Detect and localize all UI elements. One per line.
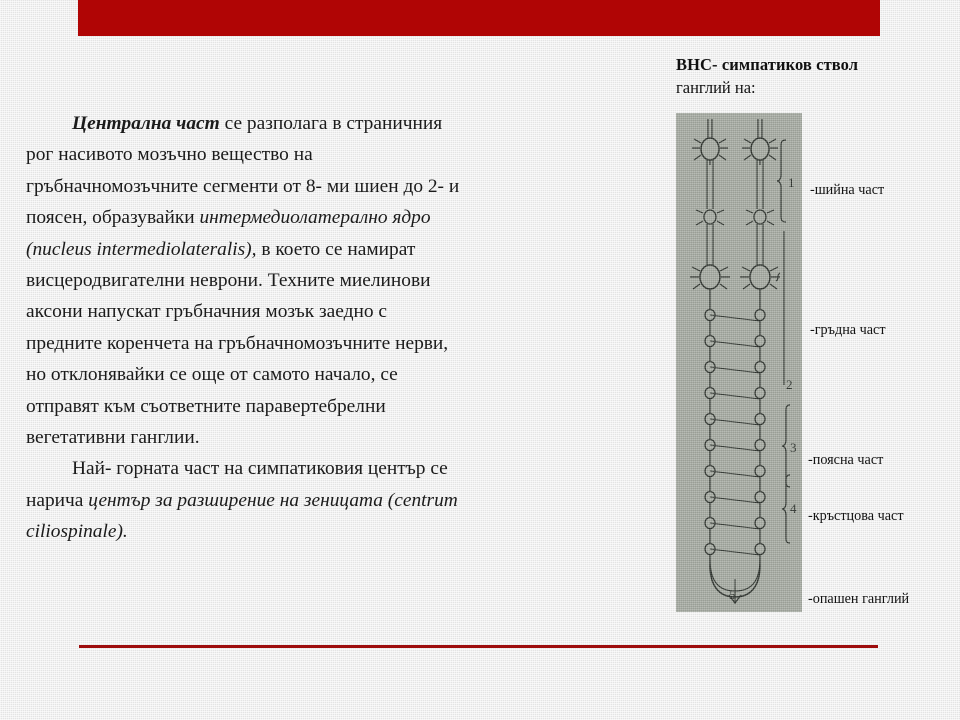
callout-coccygeal-ganglion: -опашен ганглий [808, 591, 909, 607]
callout-cervical-part: -шийна част [810, 182, 884, 198]
paragraph-central-part: Централна част се разполага в страничния… [26, 108, 651, 453]
callout-lumbar-part: -поясна част [808, 452, 883, 468]
term-ciliospinale-tail: ciliospinale). [26, 521, 128, 542]
paragraph-ciliospinal-center: Най- горната част на симпатиковия център… [26, 453, 651, 547]
top-accent-bar [78, 0, 880, 36]
p1-line4-before: поясен, образувайки [26, 207, 199, 228]
p1-line3: гръбначномозъчните сегменти от 8- ми шие… [26, 176, 459, 197]
slide: Централна част се разполага в страничния… [0, 0, 960, 720]
right-panel-heading: ВНС- симпатиков ствол ганглий на: [676, 55, 960, 99]
p1-line1-rest: се разполага в страничния [220, 113, 442, 134]
p1-line8: предните коренчета на гръбначномозъчните… [26, 333, 448, 354]
svg-text:4: 4 [790, 501, 797, 516]
p1-line6: висцеродвигателни неврони. Техните миели… [26, 270, 431, 291]
svg-text:1: 1 [788, 175, 795, 190]
term-intermediolateral-nucleus: интермедиолатерално ядро [199, 207, 430, 228]
p2-line2-before: нарича [26, 490, 88, 511]
panel-subtitle: ганглий на: [676, 77, 960, 99]
svg-text:5: 5 [729, 587, 736, 602]
callout-thoracic-part: -гръдна част [810, 322, 886, 338]
sympathetic-trunk-diagram: 1 2 3 4 5 [676, 113, 802, 612]
p1-line10: отправят към съответните паравертебрелни [26, 396, 386, 417]
term-nucleus-intermediolateralis: (nucleus intermediolateralis), [26, 239, 257, 260]
p1-line7: аксони напускат гръбначния мозък заедно … [26, 301, 387, 322]
p1-line5-after: в което се намират [257, 239, 416, 260]
svg-text:3: 3 [790, 440, 797, 455]
panel-title: ВНС- симпатиков ствол [676, 55, 960, 75]
p2-line1: Най- горната част на симпатиковия център… [72, 458, 448, 479]
bottom-accent-rule [79, 645, 878, 648]
term-centralna-chast: Централна част [72, 113, 220, 134]
callout-sacral-part: -кръстцова част [808, 508, 904, 524]
svg-text:2: 2 [786, 377, 793, 392]
p1-line9: но отклонявайки се още от самото начало,… [26, 364, 398, 385]
p1-line2: рог насивото мозъчно вещество на [26, 144, 313, 165]
body-text-block: Централна част се разполага в страничния… [26, 108, 651, 548]
p1-line11: вегетативни ганглии. [26, 427, 200, 448]
term-centrum-ciliospinale: център за разширение на зеницата (centru… [88, 490, 458, 511]
